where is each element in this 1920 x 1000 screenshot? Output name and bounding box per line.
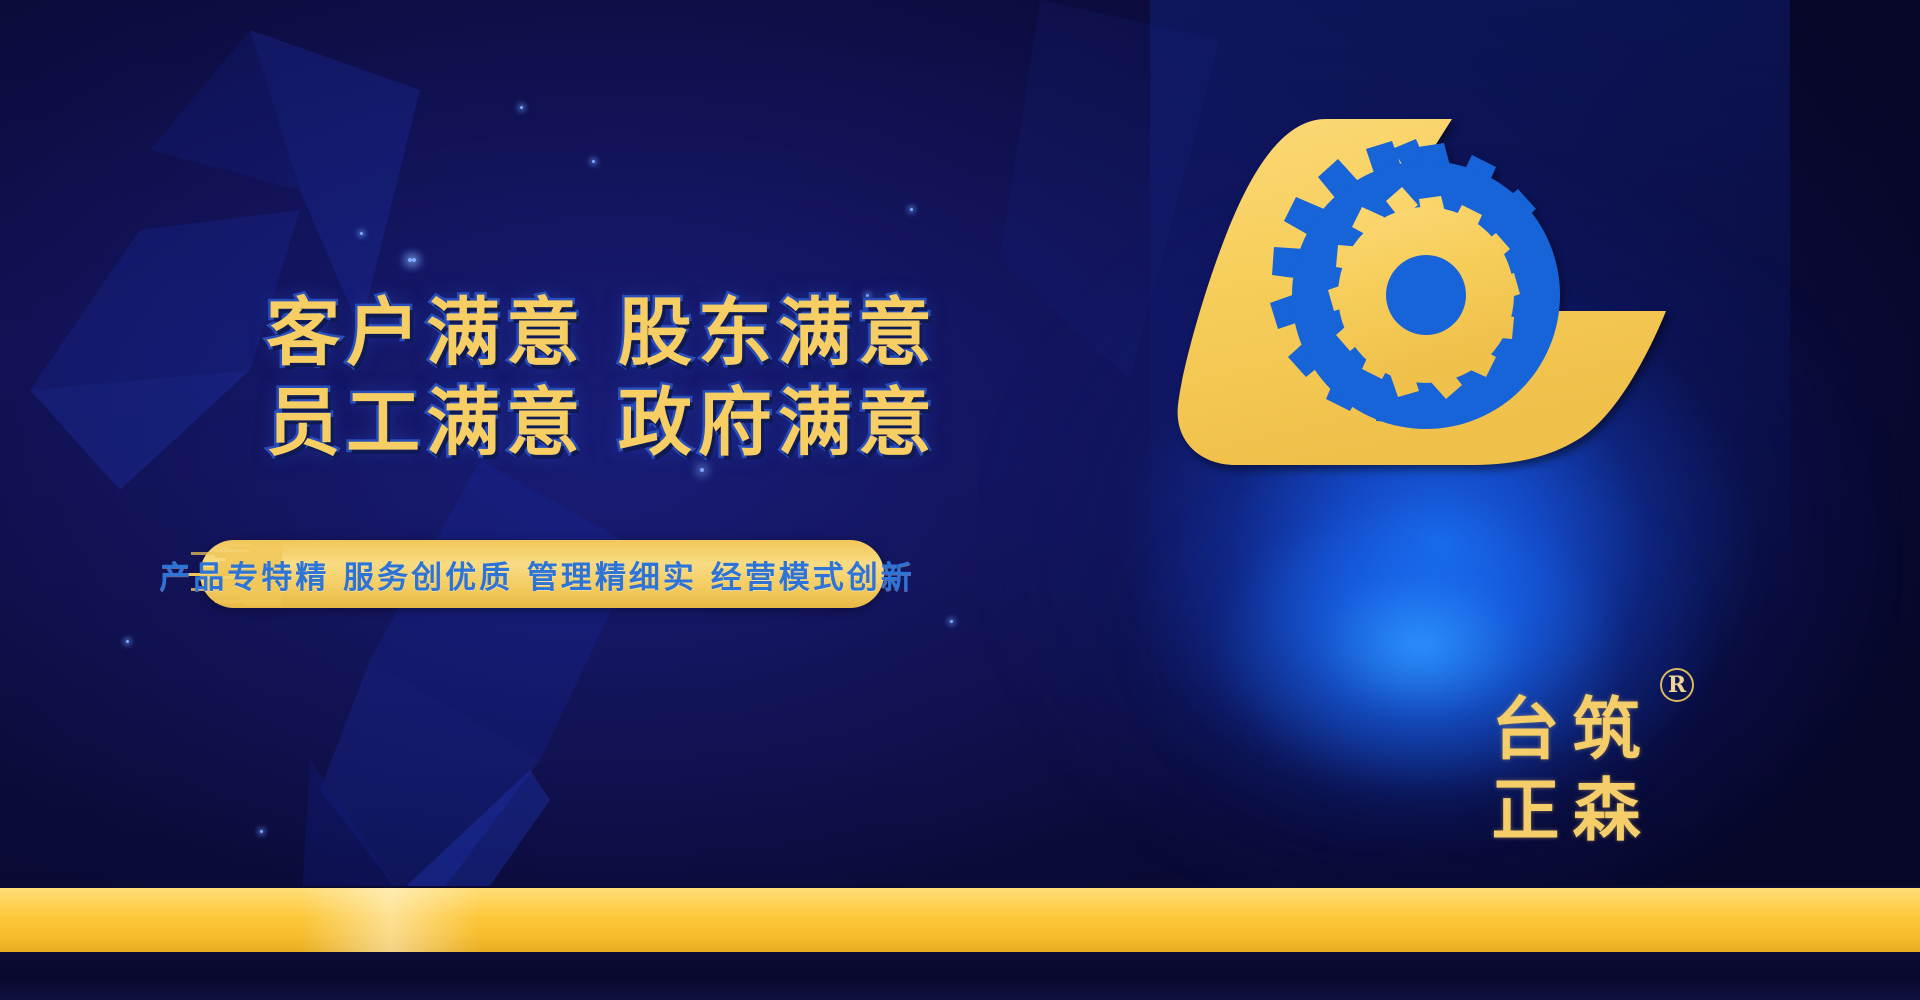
registered-trademark-icon: R [1660, 668, 1694, 702]
wordmark-char: 筑 [1567, 690, 1646, 769]
gold-bar-sheen [0, 888, 1920, 917]
headline-line-1: 客户满意 股东满意 [192, 288, 1012, 378]
bottom-gold-bar [0, 886, 1920, 954]
brand-wordmark: 台 筑 正 森 R [1486, 690, 1686, 850]
headline-line-2: 员工满意 政府满意 [192, 378, 1012, 468]
sparkle-dot [408, 258, 412, 262]
gold-bar-light-streak [300, 888, 480, 952]
gear-swoosh-logo-icon [1130, 95, 1690, 490]
sparkle-dot [592, 160, 595, 163]
sparkle-dot [412, 258, 416, 262]
wordmark-char: 台 [1486, 690, 1565, 769]
sparkle-dot [950, 620, 953, 623]
sparkle-dot [260, 830, 263, 833]
wordmark-char: 正 [1486, 771, 1565, 850]
sparkle-dot [126, 640, 129, 643]
sparkle-dot [360, 232, 363, 235]
subtitle-pill: 产品专特精 服务创优质 管理精细实 经营模式创新 [172, 540, 884, 608]
subtitle-pill-text: 产品专特精 服务创优质 管理精细实 经营模式创新 [172, 540, 884, 608]
bottom-dark-strip [0, 954, 1920, 1000]
culture-banner: 客户满意 股东满意 员工满意 政府满意 产品专特精 服务创优质 管理精细实 经营… [0, 0, 1920, 1000]
wordmark-char: 森 [1567, 771, 1646, 850]
sparkle-dot [910, 208, 913, 211]
sparkle-dot [520, 106, 523, 109]
sparkle-dot [700, 468, 704, 472]
headline-block: 客户满意 股东满意 员工满意 政府满意 [192, 288, 1012, 469]
